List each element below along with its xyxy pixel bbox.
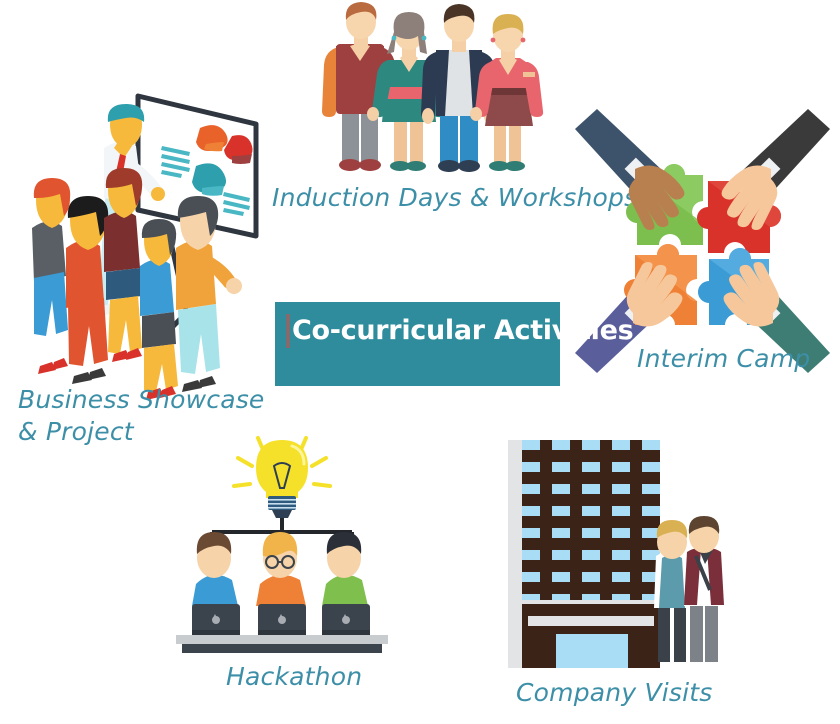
label-business-showcase-line1: Business Showcase <box>18 384 265 416</box>
coder-right <box>322 532 370 635</box>
label-company-visits: Company Visits <box>516 677 713 709</box>
text-caret <box>287 314 289 348</box>
coder-left <box>192 532 240 635</box>
visitor-right <box>684 516 724 662</box>
person-four <box>470 14 543 171</box>
presentation-audience-illustration <box>10 88 265 378</box>
audience <box>32 168 242 400</box>
coder-center <box>256 532 306 635</box>
three-coders-lightbulb-illustration <box>170 432 395 652</box>
label-hackathon: Hackathon <box>226 661 362 693</box>
label-business-showcase-line2: & Project <box>18 416 134 448</box>
visitor-left <box>654 520 690 662</box>
office-building-visitors-illustration <box>500 438 725 668</box>
center-title-box: Co-curricular Activities <box>275 302 560 386</box>
group-of-four-people-illustration <box>318 0 533 175</box>
center-title-text: Co-curricular Activities <box>292 311 633 351</box>
building-windows <box>522 440 660 600</box>
lightbulb-icon <box>256 440 308 518</box>
infographic-canvas: Induction Days & Workshops <box>0 0 840 724</box>
label-interim-camp: Interim Camp <box>637 343 810 375</box>
